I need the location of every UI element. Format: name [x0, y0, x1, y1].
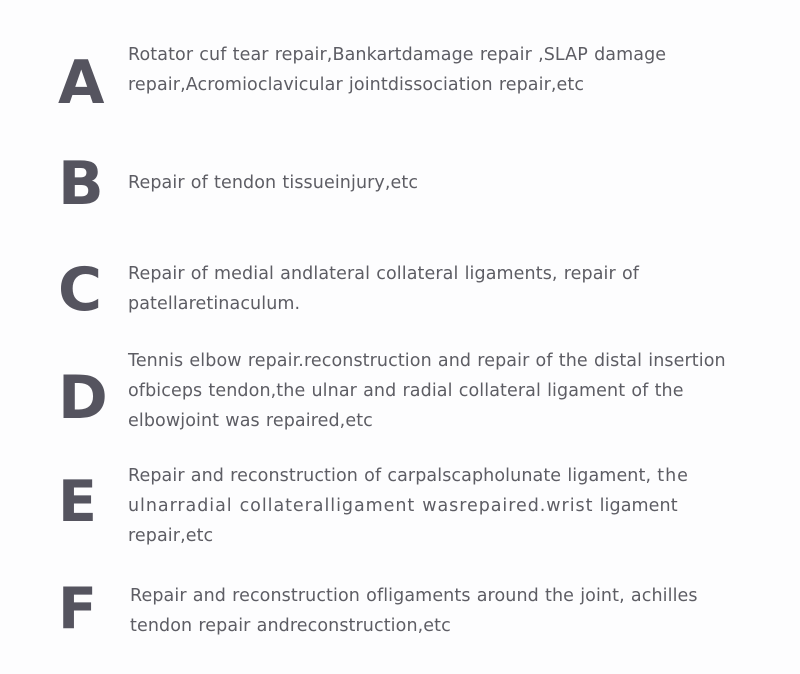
item-description-b: Repair of tendon tissueinjury,etc [128, 168, 748, 198]
item-description-e: Repair and reconstruction of carpalscaph… [128, 461, 748, 551]
list-item: D Tennis elbow repair.reconstruction and… [0, 346, 800, 448]
list-item: C Repair of medial andlateral collateral… [0, 253, 800, 329]
item-description-a: Rotator cuf tear repair,Bankartdamage re… [128, 40, 748, 100]
list-item: E Repair and reconstruction of carpalsca… [0, 461, 800, 563]
infographic-page: A Rotator cuf tear repair,Bankartdamage … [0, 0, 800, 674]
item-description-d: Tennis elbow repair.reconstruction and r… [128, 346, 748, 436]
item-description-f: Repair and reconstruction ofligaments ar… [130, 581, 750, 641]
procedure-list: A Rotator cuf tear repair,Bankartdamage … [0, 0, 800, 674]
item-description-c: Repair of medial andlateral collateral l… [128, 259, 748, 319]
item-letter-a: A [58, 54, 116, 112]
item-description-e-line1: Repair and reconstruction of carpalscaph… [128, 466, 651, 486]
item-letter-d: D [58, 369, 116, 427]
item-letter-e: E [58, 473, 116, 531]
item-letter-b: B [58, 155, 116, 213]
list-item: A Rotator cuf tear repair,Bankartdamage … [0, 40, 800, 126]
item-letter-c: C [58, 261, 116, 319]
item-letter-f: F [58, 580, 116, 638]
list-item: B Repair of tendon tissueinjury,etc [0, 152, 800, 220]
list-item: F Repair and reconstruction ofligaments … [0, 578, 800, 650]
